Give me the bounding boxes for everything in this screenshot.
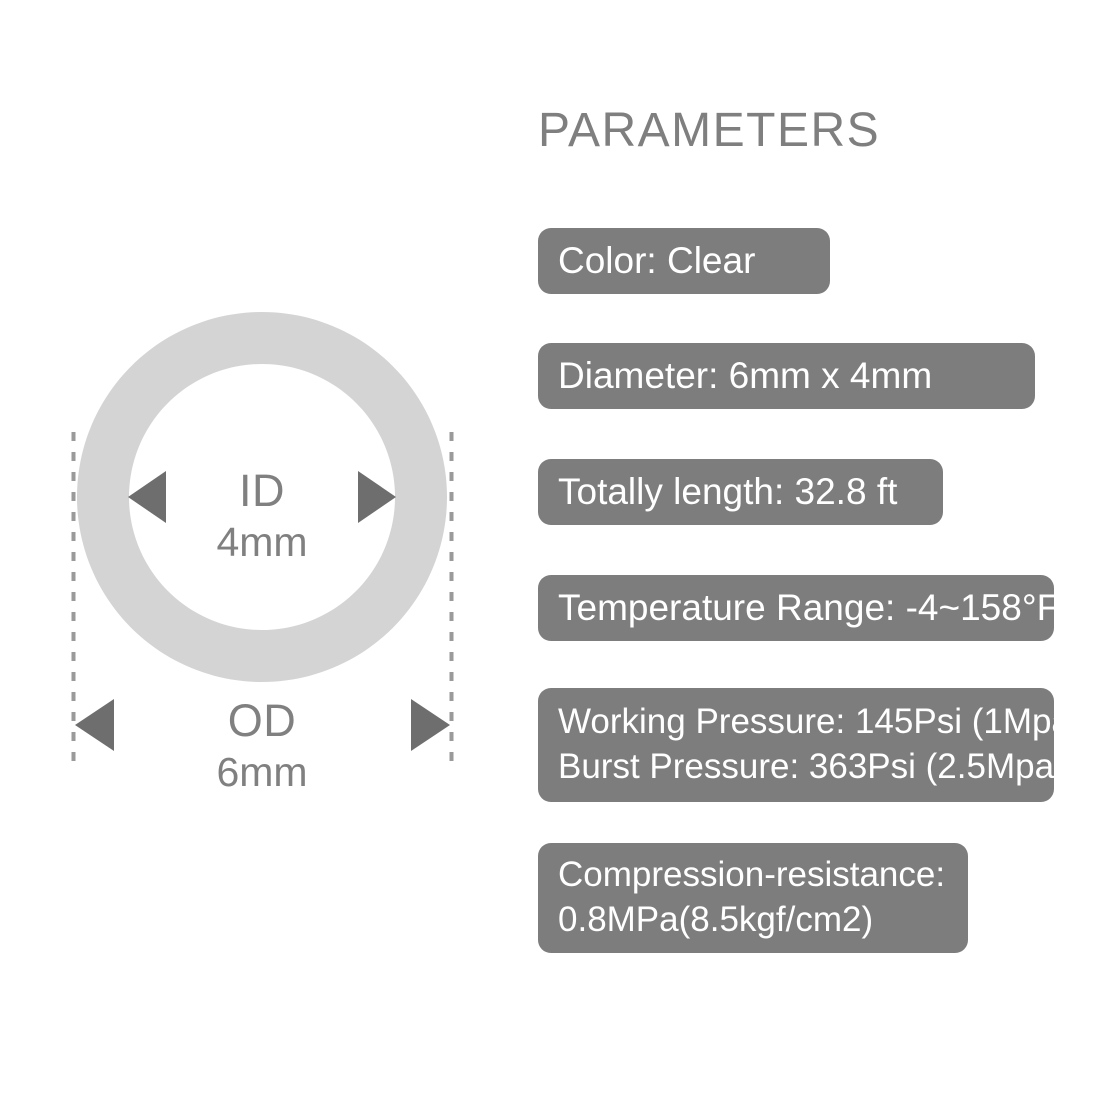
spec-pill-pressure: Working Pressure: 145Psi (1Mpa) Burst Pr… — [538, 688, 1054, 802]
spec-pill-temperature-range: Temperature Range: -4~158°F — [538, 575, 1054, 641]
od-arrow-left-icon — [75, 699, 114, 751]
spec-pill-diameter: Diameter: 6mm x 4mm — [538, 343, 1035, 409]
od-value-text: 6mm — [162, 752, 362, 793]
spec-pill-color: Color: Clear — [538, 228, 830, 294]
spec-pill-line: Color: Clear — [558, 238, 810, 283]
od-label-text: OD — [162, 698, 362, 743]
spec-pill-line: Totally length: 32.8 ft — [558, 469, 923, 514]
id-arrow-right-icon — [358, 471, 396, 523]
outer-diameter-label: OD 6mm — [162, 698, 362, 793]
spec-pill-line: Compression-resistance: — [558, 853, 948, 898]
inner-diameter-label: ID 4mm — [162, 468, 362, 563]
parameters-panel: PARAMETERS Color: Clear Diameter: 6mm x … — [538, 0, 1100, 1100]
id-value-text: 4mm — [162, 522, 362, 563]
tube-cross-section-diagram: ID 4mm OD 6mm — [0, 0, 520, 1100]
spec-pill-compression-resistance: Compression-resistance: 0.8MPa(8.5kgf/cm… — [538, 843, 968, 953]
spec-pill-line: Working Pressure: 145Psi (1Mpa) — [558, 700, 1034, 745]
spec-pill-line: Burst Pressure: 363Psi (2.5Mpa) — [558, 745, 1034, 790]
id-label-text: ID — [162, 468, 362, 513]
product-spec-page: ID 4mm OD 6mm PARAMETERS Color: Clear Di… — [0, 0, 1100, 1100]
spec-pill-line: Diameter: 6mm x 4mm — [558, 353, 1015, 398]
spec-pill-length: Totally length: 32.8 ft — [538, 459, 943, 525]
spec-pill-line: 0.8MPa(8.5kgf/cm2) — [558, 898, 948, 943]
spec-pill-line: Temperature Range: -4~158°F — [558, 585, 1034, 630]
parameters-heading: PARAMETERS — [538, 103, 880, 158]
id-arrow-left-icon — [128, 471, 166, 523]
od-arrow-right-icon — [411, 699, 450, 751]
